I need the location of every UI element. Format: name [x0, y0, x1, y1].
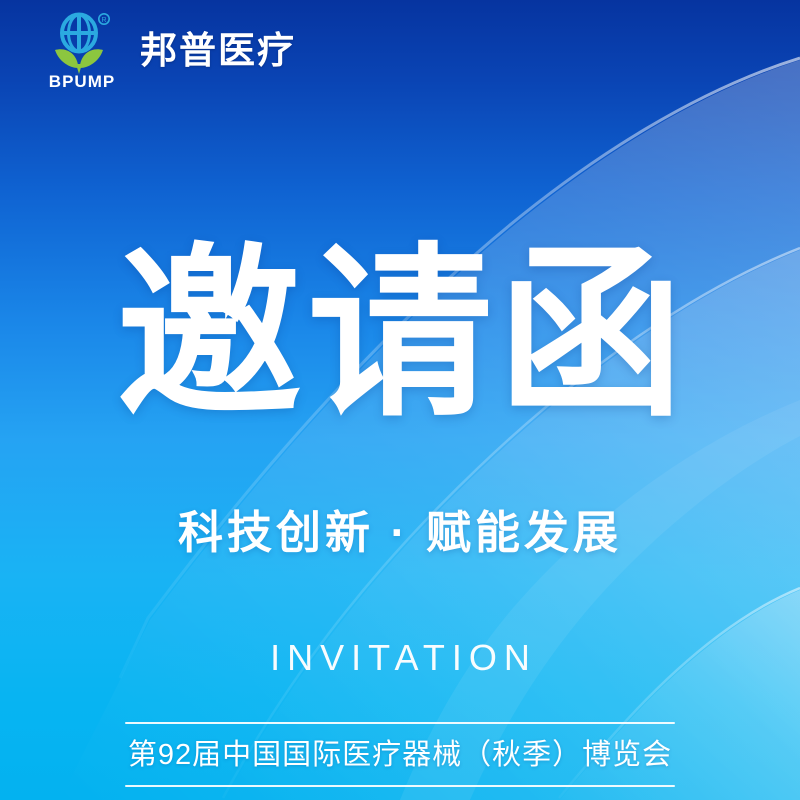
invitation-poster: R BPUMP 邦普医疗 邀请函 科技创新 · 赋能发展 INVITATION … [0, 0, 800, 800]
footer-rule-bottom [125, 785, 675, 787]
logo-trademark-letter: R [101, 17, 106, 24]
invitation-en-text: INVITATION [263, 640, 537, 676]
main-title: 邀请函 [111, 243, 690, 428]
poster-header: R BPUMP 邦普医疗 [0, 0, 800, 100]
slogan-text: 科技创新 · 赋能发展 [178, 508, 622, 558]
bpump-logo: R BPUMP [46, 12, 118, 88]
logo-wordmark: BPUMP [46, 73, 118, 90]
main-title-container: 邀请函 [0, 243, 800, 428]
poster-footer: 第92届中国国际医疗器械（秋季）博览会 [125, 722, 675, 787]
event-name: 第92届中国国际医疗器械（秋季）博览会 [125, 724, 675, 785]
brand-name-cn: 邦普医疗 [140, 32, 296, 69]
invitation-en-container: INVITATION [0, 640, 800, 676]
slogan-container: 科技创新 · 赋能发展 [0, 508, 800, 558]
